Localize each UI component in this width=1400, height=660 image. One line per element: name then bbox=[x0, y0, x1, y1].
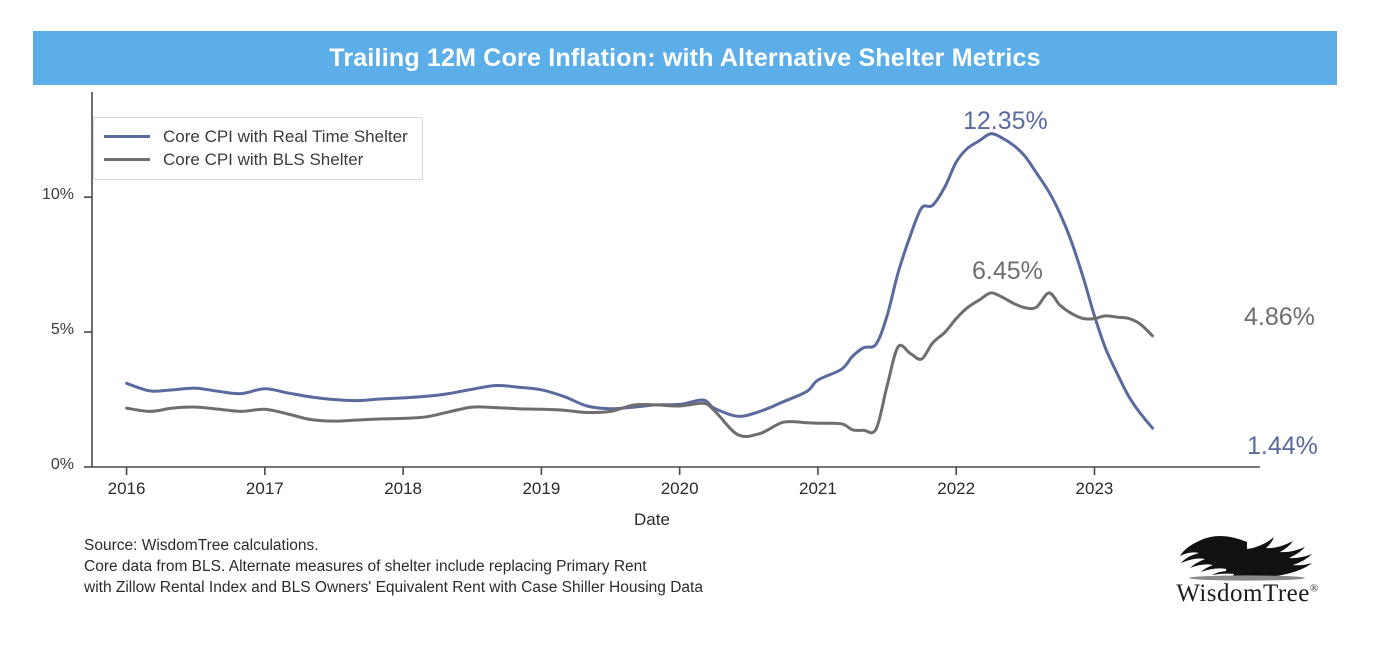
chart-legend[interactable]: Core CPI with Real Time Shelter Core CPI… bbox=[93, 117, 423, 180]
legend-label-1: Core CPI with BLS Shelter bbox=[163, 150, 363, 170]
chart-page: Trailing 12M Core Inflation: with Altern… bbox=[0, 0, 1400, 660]
legend-label-0: Core CPI with Real Time Shelter bbox=[163, 127, 408, 147]
logo-wordmark-text: WisdomTree bbox=[1176, 580, 1310, 607]
series-line-gray bbox=[127, 293, 1153, 437]
wisdomtree-logo: WisdomTree® bbox=[1140, 528, 1355, 613]
y-axis-tick-0: 0% bbox=[14, 456, 74, 474]
source-line-1: Source: WisdomTree calculations. bbox=[84, 535, 703, 556]
x-axis-tick-2020: 2020 bbox=[640, 479, 720, 499]
legend-item-1[interactable]: Core CPI with BLS Shelter bbox=[104, 148, 408, 171]
x-axis-title: Date bbox=[552, 510, 752, 530]
y-axis-tick-10: 10% bbox=[14, 186, 74, 204]
legend-swatch-gray bbox=[104, 158, 150, 161]
x-axis-tick-2021: 2021 bbox=[778, 479, 858, 499]
x-axis-tick-2018: 2018 bbox=[363, 479, 443, 499]
blue-peak-label: 12.35% bbox=[963, 107, 1048, 136]
legend-item-0[interactable]: Core CPI with Real Time Shelter bbox=[104, 125, 408, 148]
logo-registered-mark: ® bbox=[1310, 583, 1319, 595]
x-axis-tick-2017: 2017 bbox=[225, 479, 305, 499]
blue-end-label: 1.44% bbox=[1247, 432, 1318, 461]
x-axis-tick-2016: 2016 bbox=[87, 479, 167, 499]
source-line-3: with Zillow Rental Index and BLS Owners'… bbox=[84, 577, 703, 598]
gray-peak-label: 6.45% bbox=[972, 257, 1043, 286]
source-line-2: Core data from BLS. Alternate measures o… bbox=[84, 556, 703, 577]
tree-icon bbox=[1140, 528, 1355, 588]
source-note: Source: WisdomTree calculations. Core da… bbox=[84, 535, 703, 598]
legend-swatch-blue bbox=[104, 135, 150, 138]
y-axis-tick-5: 5% bbox=[14, 321, 74, 339]
x-axis-tick-2023: 2023 bbox=[1054, 479, 1134, 499]
x-axis-tick-2019: 2019 bbox=[501, 479, 581, 499]
logo-wordmark: WisdomTree® bbox=[1140, 580, 1355, 608]
gray-end-label: 4.86% bbox=[1244, 303, 1315, 332]
x-axis-tick-2022: 2022 bbox=[916, 479, 996, 499]
